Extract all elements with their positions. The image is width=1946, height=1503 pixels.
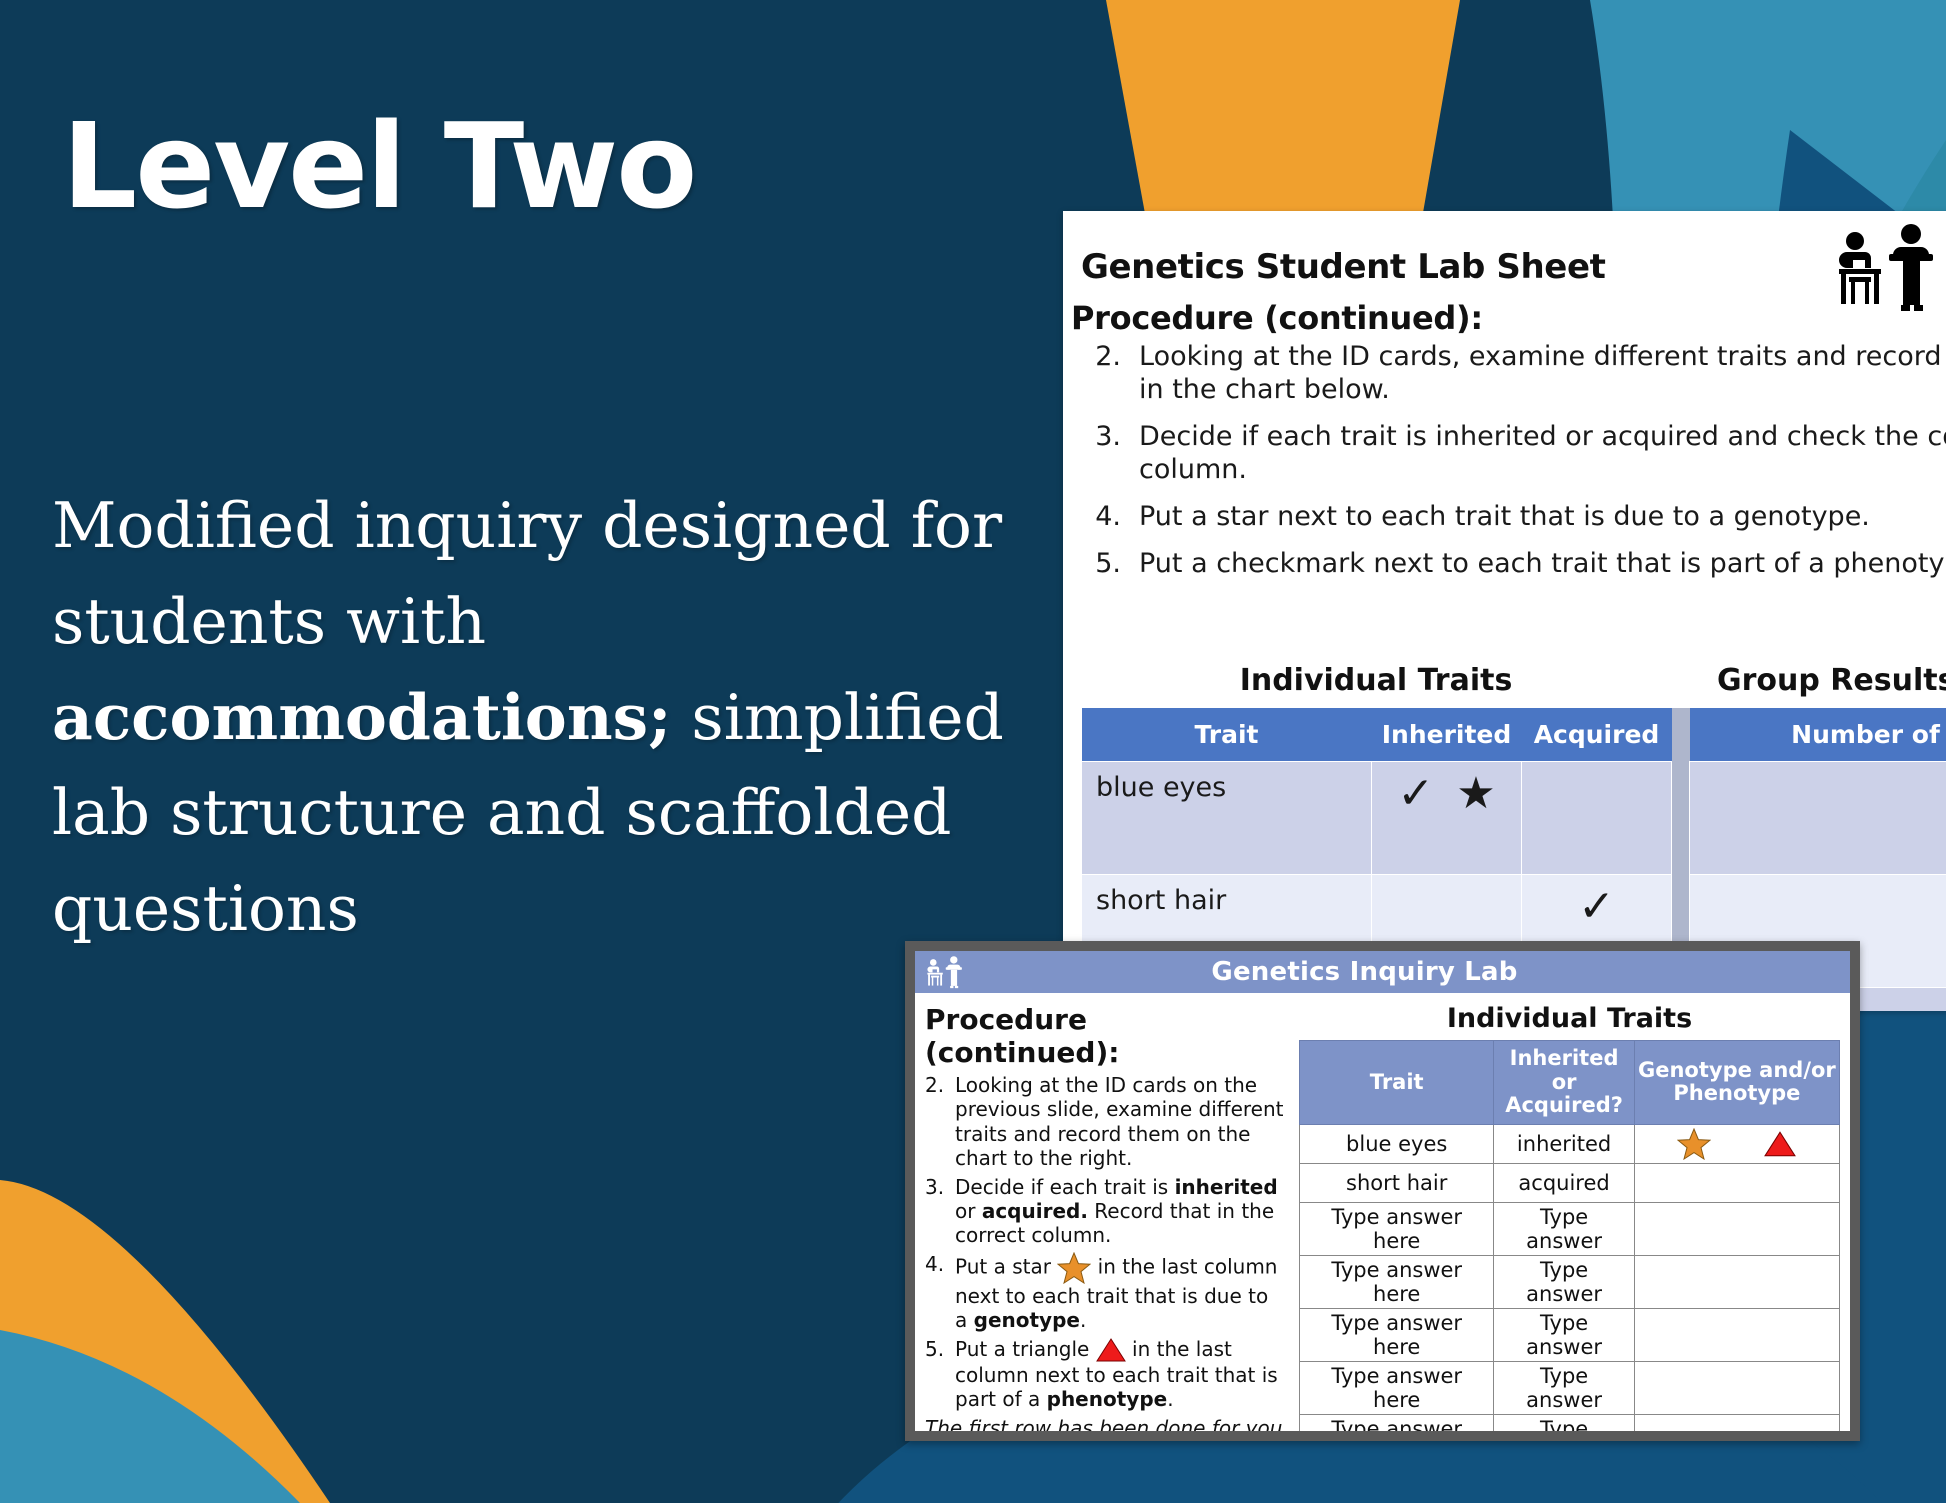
step-text: Decide if each trait is inherited or acq… [1139,421,1946,487]
step-number: 5. [925,1337,947,1412]
step-fragment-bold: acquired. [982,1199,1088,1223]
column-header-inherited-or-acquired[interactable]: Inherited or Acquired? [1494,1041,1634,1125]
slide-canvas: Level Two Modified inquiry designed for … [0,0,1946,1503]
step-fragment: . [1080,1308,1086,1332]
check-icon: ✓ [1397,772,1434,816]
list-item: 4. Put a star next to each trait that is… [1091,501,1946,534]
cell-inherited[interactable]: ✓ ★ [1372,762,1522,875]
inquiry-lab-steps: 2. Looking at the ID cards on the previo… [925,1073,1285,1412]
triangle-icon[interactable] [1764,1130,1796,1158]
column-header-trait[interactable]: Trait [1300,1041,1494,1125]
cell-status[interactable]: acquired [1494,1163,1634,1202]
column-header-number[interactable]: Number of [1690,708,1946,762]
cell-trait[interactable]: blue eyes [1300,1124,1494,1163]
cell-trait[interactable]: Type answer here [1300,1414,1494,1431]
cell-trait[interactable]: Type answer here [1300,1361,1494,1414]
cell-trait[interactable]: short hair [1300,1163,1494,1202]
step-fragment: Put a star [955,1254,1057,1278]
step-number: 4. [925,1252,947,1333]
table-row[interactable]: Type answer here Type answer [1300,1414,1840,1431]
table-row[interactable]: blue eyes ✓ ★ [1082,762,1946,875]
cell-marks[interactable] [1634,1163,1839,1202]
step-number: 2. [1091,341,1121,407]
inquiry-lab-note: The first row has been done for you as a… [925,1416,1285,1431]
lab-sheet-document[interactable]: Genetics Student Lab Sheet Procedure (co… [1063,211,1946,1011]
body-paragraph: Modified inquiry designed for students w… [52,478,1032,957]
cell-marks[interactable] [1634,1255,1839,1308]
step-fragment: or [955,1199,982,1223]
table-row[interactable]: short hair acquired [1300,1163,1840,1202]
cell-status[interactable]: Type answer [1494,1202,1634,1255]
lab-sheet-subheading: Procedure (continued): [1071,299,1946,337]
step-fragment-bold: phenotype [1047,1387,1168,1411]
step-fragment-bold: genotype [974,1308,1080,1332]
star-icon[interactable] [1677,1128,1711,1160]
lab-sheet-table-captions: Individual Traits Group Results [1081,663,1946,698]
step-text: Looking at the ID cards, examine differe… [1139,341,1946,407]
column-header-genotype-phenotype[interactable]: Genotype and/or Phenotype [1634,1041,1839,1125]
inquiry-lab-instructions: Procedure (continued): 2. Looking at the… [925,1001,1285,1431]
check-icon: ✓ [1578,885,1615,929]
cell-status[interactable]: Type answer [1494,1361,1634,1414]
step-text: Put a triangle in the last column next t… [955,1337,1285,1412]
cell-trait[interactable]: Type answer here [1300,1202,1494,1255]
step-number: 3. [925,1175,947,1248]
cell-trait[interactable]: blue eyes [1082,762,1372,875]
inquiry-lab-paper: Genetics Inquiry Lab Procedure (continue… [915,951,1850,1431]
table-row[interactable]: Type answer here Type answer [1300,1361,1840,1414]
step-text: Looking at the ID cards on the previous … [955,1073,1285,1171]
cell-number[interactable] [1690,762,1946,875]
cell-trait[interactable]: Type answer here [1300,1308,1494,1361]
teacher-and-student-icon [1827,221,1946,313]
inquiry-lab-window[interactable]: Genetics Inquiry Lab Procedure (continue… [905,941,1860,1441]
step-number: 2. [925,1073,947,1171]
cell-marks[interactable] [1634,1414,1839,1431]
list-item: 5. Put a checkmark next to each trait th… [1091,548,1946,581]
step-fragment: Put a triangle [955,1337,1096,1361]
step-text: Put a checkmark next to each trait that … [1139,548,1946,581]
inquiry-lab-body: Procedure (continued): 2. Looking at the… [915,993,1850,1431]
table-row[interactable]: blue eyes inherited [1300,1124,1840,1163]
teacher-and-student-icon [923,953,967,991]
list-item: 3. Decide if each trait is inherited or … [925,1175,1285,1248]
cell-status[interactable]: inherited [1494,1124,1634,1163]
column-header-inherited[interactable]: Inherited [1372,708,1522,762]
inquiry-lab-title: Genetics Inquiry Lab [915,957,1850,987]
list-item: 2. Looking at the ID cards on the previo… [925,1073,1285,1171]
star-icon: ★ [1456,772,1495,816]
caption-individual-traits: Individual Traits [1299,1003,1840,1034]
lab-sheet-heading: Genetics Student Lab Sheet [1081,247,1946,287]
caption-group-results: Group Results [1689,663,1946,698]
cell-spacer [1672,762,1690,875]
teacher-and-student-glyph [923,953,967,991]
list-item: 2. Looking at the ID cards, examine diff… [1091,341,1946,407]
caption-individual-traits: Individual Traits [1081,663,1671,698]
inquiry-lab-table-area: Individual Traits Trait Inherited or Acq… [1285,1001,1840,1431]
triangle-icon [1096,1337,1126,1363]
check-and-star-marks: ✓ ★ [1386,772,1507,816]
step-fragment-bold: inherited [1175,1175,1278,1199]
step-number: 3. [1091,421,1121,487]
teacher-and-student-glyph [1827,221,1946,313]
step-fragment: Decide if each trait is [955,1175,1175,1199]
body-text-pre: Modified inquiry designed for students w… [52,489,1002,658]
step-number: 4. [1091,501,1121,534]
list-item: 5. Put a triangle in the last column nex… [925,1337,1285,1412]
column-header-acquired[interactable]: Acquired [1522,708,1672,762]
step-text: Put a star next to each trait that is du… [1139,501,1946,534]
star-icon [1057,1252,1091,1284]
step-text: Decide if each trait is inherited or acq… [955,1175,1285,1248]
step-fragment: . [1167,1387,1173,1411]
cell-marks[interactable] [1634,1124,1839,1163]
cell-marks[interactable] [1634,1361,1839,1414]
list-item: 3. Decide if each trait is inherited or … [1091,421,1946,487]
body-text-bold: accommodations; [52,680,671,754]
table-row[interactable]: Type answer here Type answer [1300,1308,1840,1361]
column-spacer [1672,708,1690,762]
cell-acquired[interactable] [1522,762,1672,875]
step-number: 5. [1091,548,1121,581]
inquiry-lab-titlebar: Genetics Inquiry Lab [915,951,1850,993]
inquiry-lab-subheading: Procedure (continued): [925,1003,1285,1069]
list-item: 4. Put a star in the last column next to… [925,1252,1285,1333]
cell-status[interactable]: Type answer [1494,1414,1634,1431]
step-text: Put a star in the last column next to ea… [955,1252,1285,1333]
table-header-row: Trait Inherited Acquired Number of [1082,708,1946,762]
cell-trait[interactable]: Type answer here [1300,1255,1494,1308]
caption-gap [1671,663,1689,698]
cell-marks[interactable] [1634,1202,1839,1255]
cell-status[interactable]: Type answer [1494,1308,1634,1361]
check-mark-wrap: ✓ [1536,885,1657,929]
table-row[interactable]: Type answer here Type answer [1300,1255,1840,1308]
lab-sheet-content: Genetics Student Lab Sheet Procedure (co… [1063,211,1946,595]
page-title: Level Two [62,106,695,226]
lab-sheet-steps: 2. Looking at the ID cards, examine diff… [1063,341,1946,581]
cell-marks[interactable] [1634,1308,1839,1361]
table-row[interactable]: Type answer here Type answer [1300,1202,1840,1255]
table-header-row: Trait Inherited or Acquired? Genotype an… [1300,1041,1840,1125]
marks-wrap [1641,1128,1833,1160]
inquiry-traits-table[interactable]: Trait Inherited or Acquired? Genotype an… [1299,1040,1840,1431]
cell-status[interactable]: Type answer [1494,1255,1634,1308]
column-header-trait[interactable]: Trait [1082,708,1372,762]
